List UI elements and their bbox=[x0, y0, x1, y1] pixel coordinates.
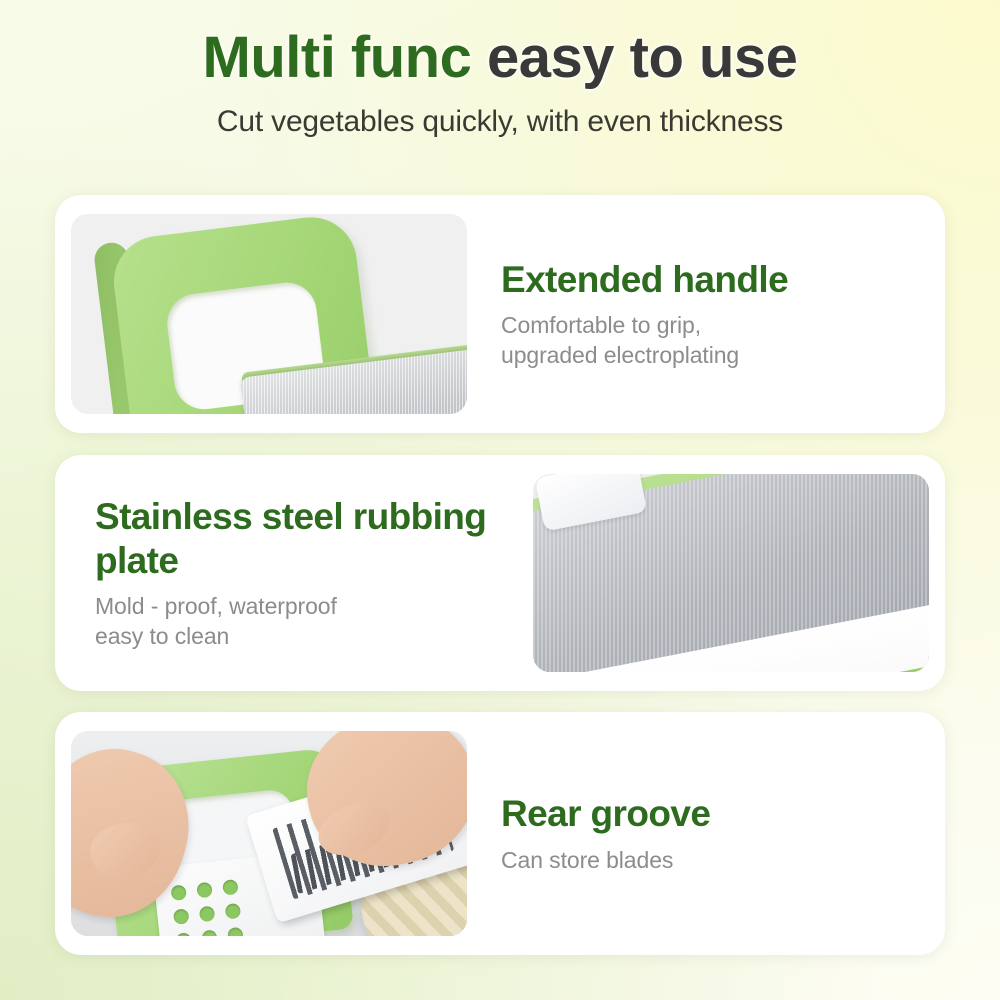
feature-card-extended-handle: Extended handle Comfortable to grip, upg… bbox=[55, 195, 945, 433]
product-image-steel-plate bbox=[533, 474, 929, 672]
page-subtitle: Cut vegetables quickly, with even thickn… bbox=[0, 105, 1000, 139]
infographic-page: Multi func easy to use Cut vegetables qu… bbox=[0, 0, 1000, 1000]
feature-headline: Rear groove bbox=[501, 792, 919, 836]
feature-card-rear-groove: Rear groove Can store blades bbox=[55, 712, 945, 955]
feature-copy: Stainless steel rubbing plate Mold - pro… bbox=[55, 455, 533, 691]
page-title-green: Multi func bbox=[203, 25, 472, 90]
header: Multi func easy to use Cut vegetables qu… bbox=[0, 26, 1000, 139]
feature-description: Mold - proof, waterproof easy to clean bbox=[95, 592, 499, 651]
product-image-green-handle bbox=[71, 214, 467, 414]
page-title-dark: easy to use bbox=[487, 25, 797, 90]
page-title: Multi func easy to use bbox=[0, 26, 1000, 91]
grater-dots bbox=[170, 878, 255, 936]
feature-description: Can store blades bbox=[501, 846, 919, 875]
feature-copy: Rear groove Can store blades bbox=[467, 712, 945, 955]
feature-headline: Stainless steel rubbing plate bbox=[95, 495, 499, 582]
feature-copy: Extended handle Comfortable to grip, upg… bbox=[467, 195, 945, 433]
product-image-hands-blade bbox=[71, 731, 467, 936]
feature-card-stainless-plate: Stainless steel rubbing plate Mold - pro… bbox=[55, 455, 945, 691]
feature-headline: Extended handle bbox=[501, 258, 919, 302]
feature-description: Comfortable to grip, upgraded electropla… bbox=[501, 311, 919, 370]
